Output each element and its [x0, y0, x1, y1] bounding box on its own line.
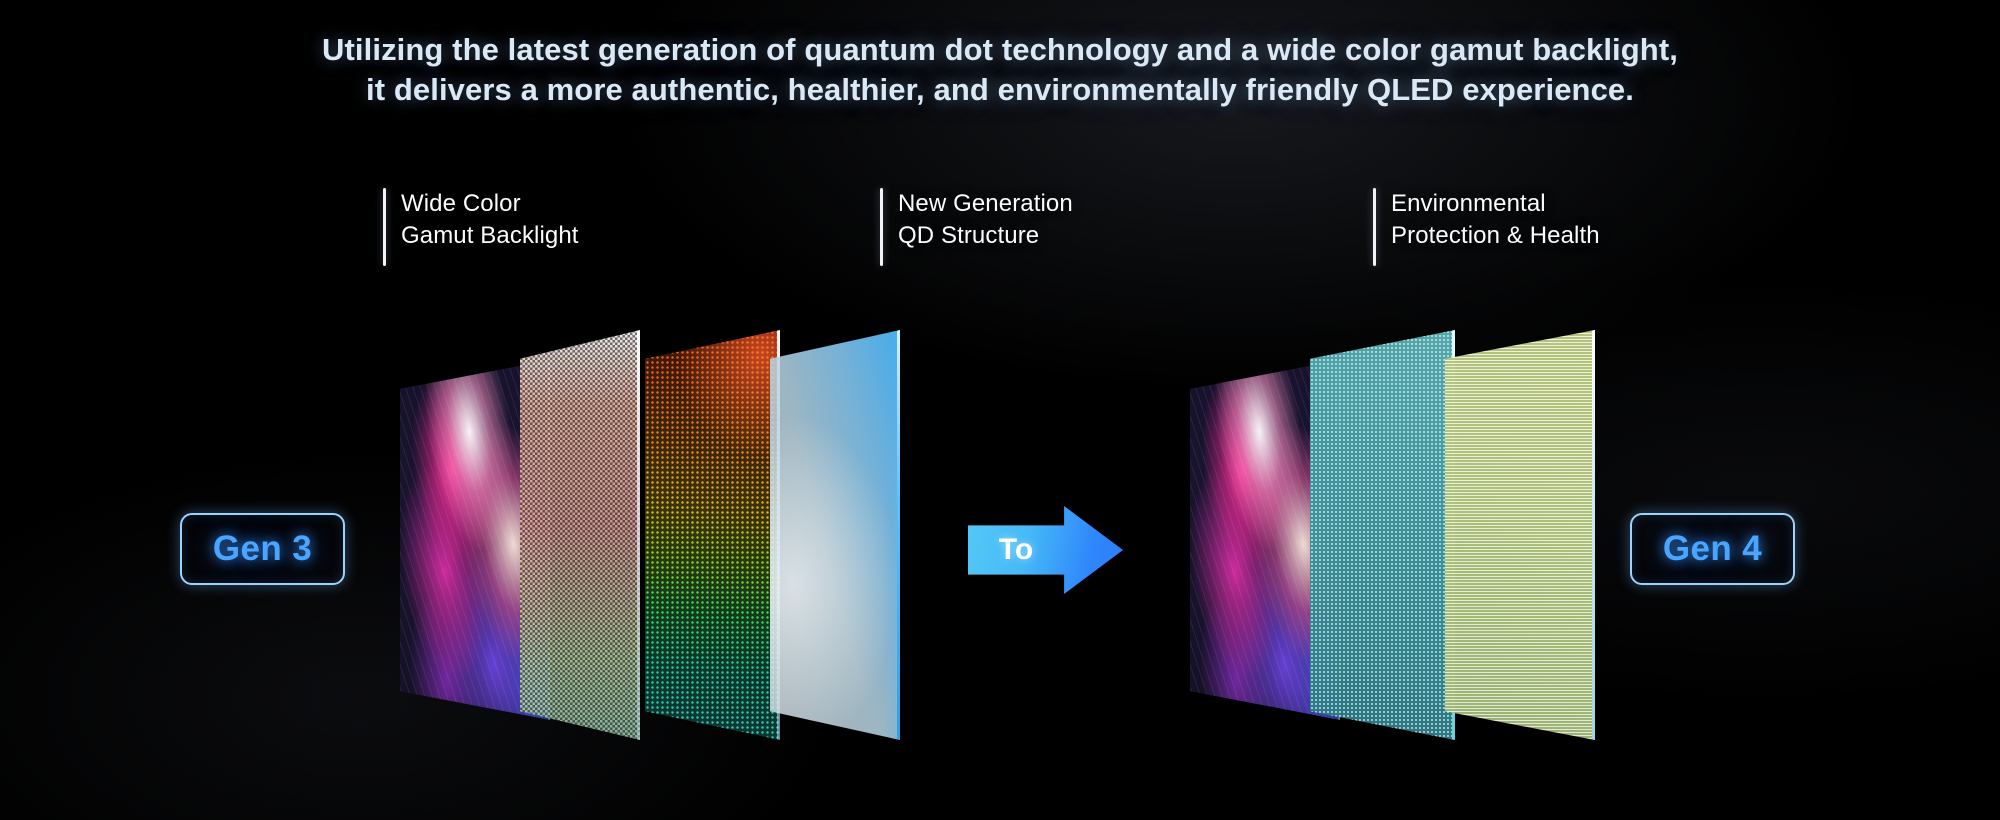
promo-banner: Utilizing the latest generation of quant… — [0, 0, 2000, 820]
label-accent-bar — [880, 188, 883, 266]
label-line-1: Wide Color — [401, 188, 579, 220]
layer-warm-glow — [645, 330, 780, 740]
label-line-1: Environmental — [1391, 188, 1600, 220]
headline-line-2: it delivers a more authentic, healthier,… — [0, 70, 2000, 110]
label-text: Environmental Protection & Health — [1391, 188, 1600, 251]
label-text: New Generation QD Structure — [898, 188, 1073, 251]
label-line-2: QD Structure — [898, 220, 1073, 252]
layer-mesh-pattern — [520, 330, 640, 740]
gen3-panel-stack — [400, 330, 900, 750]
gen4-badge: Gen 4 — [1630, 513, 1795, 585]
label-text: Wide Color Gamut Backlight — [401, 188, 579, 251]
gen4-panel-stack — [1190, 330, 1620, 750]
panel-edge — [1592, 330, 1595, 740]
panel-edge — [637, 330, 640, 740]
gen4-badge-label: Gen 4 — [1663, 529, 1762, 569]
label-line-2: Protection & Health — [1391, 220, 1600, 252]
gen4-backlight-layer — [1445, 330, 1595, 740]
gen3-backlight-layer — [770, 330, 900, 740]
layer-dot-pattern — [1310, 330, 1455, 740]
label-line-1: New Generation — [898, 188, 1073, 220]
gen3-mesh-layer — [520, 330, 640, 740]
page-title: Utilizing the latest generation of quant… — [0, 30, 2000, 111]
panel-edge — [897, 330, 900, 740]
headline-line-1: Utilizing the latest generation of quant… — [322, 32, 1678, 67]
label-accent-bar — [1373, 188, 1376, 266]
to-arrow: To — [968, 506, 1123, 594]
gen4-qd-teal-layer — [1310, 330, 1455, 740]
label-accent-bar — [383, 188, 386, 266]
gen3-qd-dot-layer — [645, 330, 780, 740]
arrow-label: To — [968, 506, 1064, 594]
label-line-2: Gamut Backlight — [401, 220, 579, 252]
feature-label-wide-color-gamut-backlight: Wide Color Gamut Backlight — [383, 188, 579, 266]
gen3-badge: Gen 3 — [180, 513, 345, 585]
feature-label-environmental-protection-health: Environmental Protection & Health — [1373, 188, 1600, 266]
gen3-badge-label: Gen 3 — [213, 529, 312, 569]
layer-sheen — [770, 330, 900, 740]
layer-stripe-pattern — [1445, 330, 1595, 740]
feature-label-new-generation-qd-structure: New Generation QD Structure — [880, 188, 1073, 266]
